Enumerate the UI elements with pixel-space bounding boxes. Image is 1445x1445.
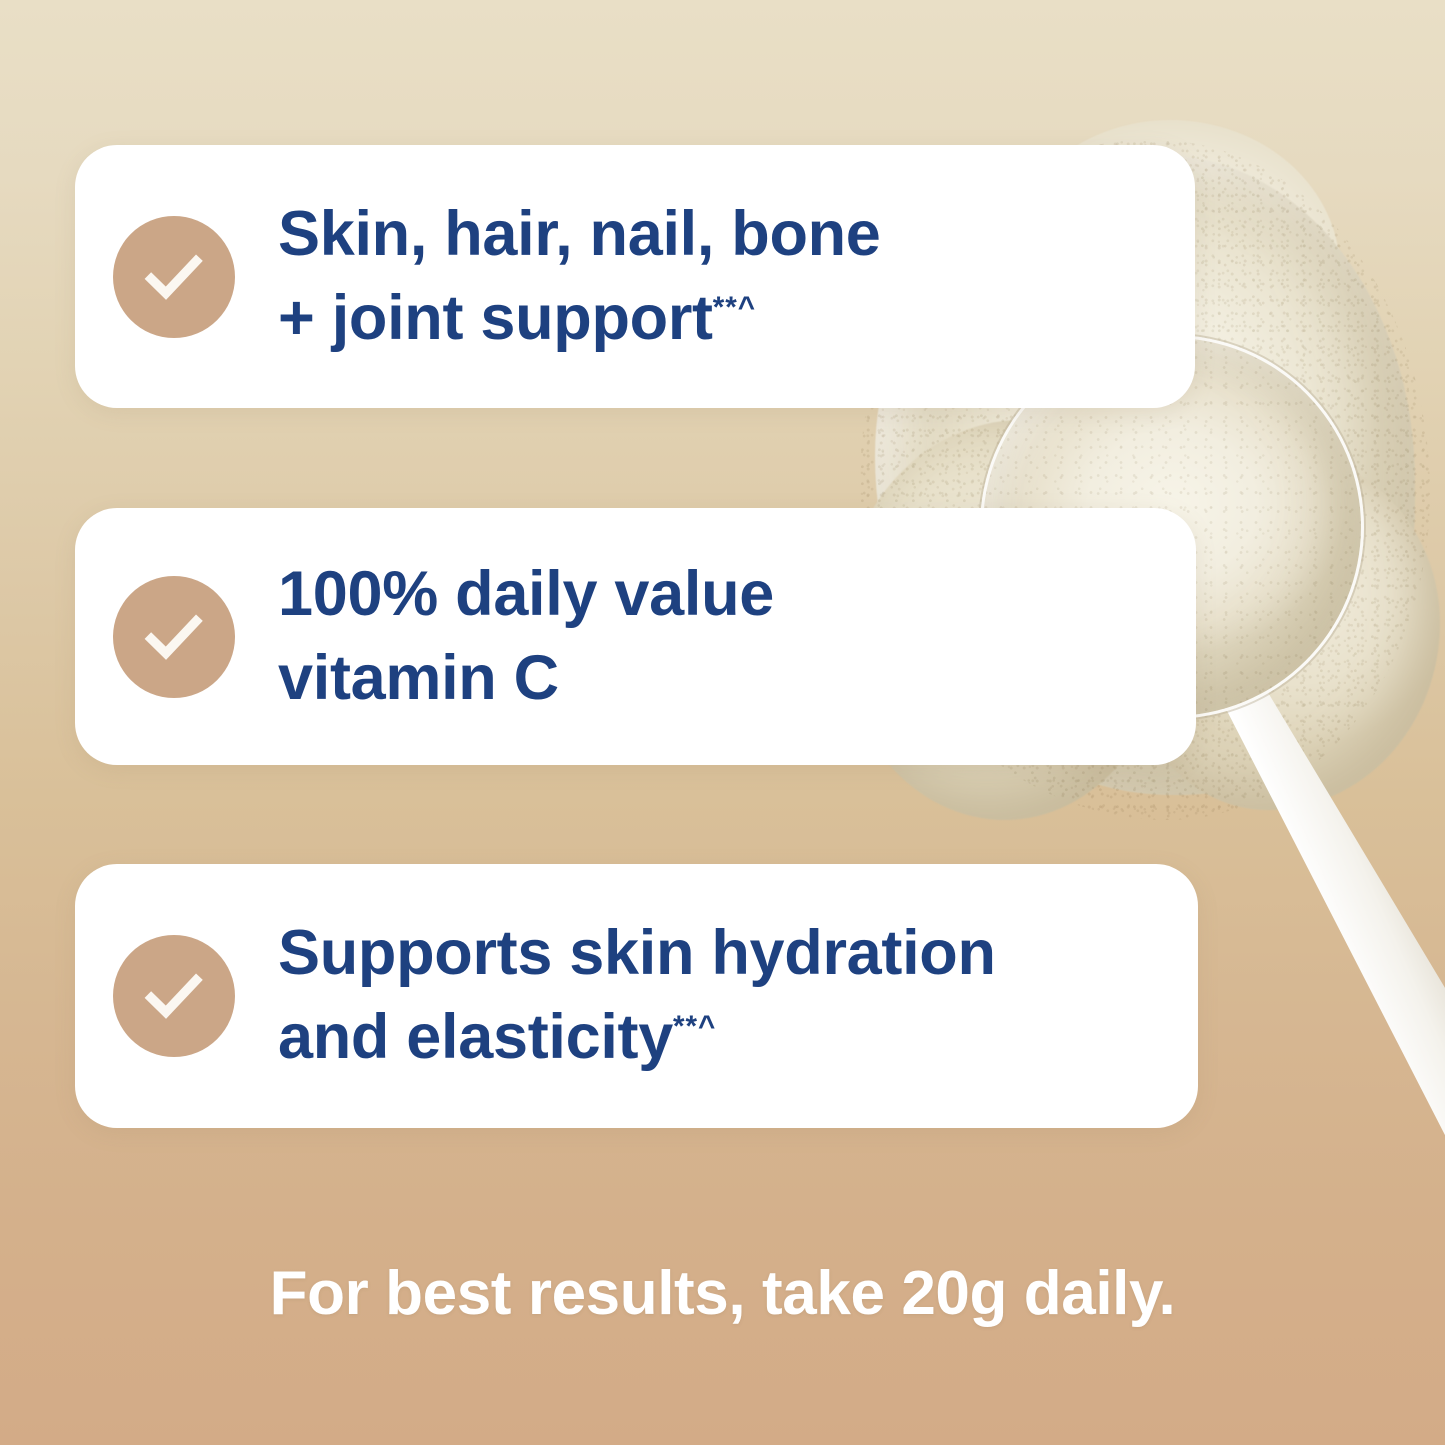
benefit-line-2: + joint support	[278, 283, 713, 353]
benefit-superscript: **^	[713, 291, 756, 324]
infographic-canvas: Skin, hair, nail, bone+ joint support**^…	[0, 0, 1445, 1445]
benefit-card: 100% daily valuevitamin C	[75, 508, 1196, 765]
check-icon	[113, 216, 235, 338]
usage-instruction: For best results, take 20g daily.	[0, 1258, 1445, 1329]
benefit-card: Supports skin hydrationand elasticity**^	[75, 864, 1198, 1128]
benefit-text: Skin, hair, nail, bone+ joint support**^	[278, 193, 881, 361]
benefit-text: Supports skin hydrationand elasticity**^	[278, 912, 996, 1080]
benefit-card: Skin, hair, nail, bone+ joint support**^	[75, 145, 1195, 408]
benefit-line-1: 100% daily value	[278, 559, 774, 629]
benefit-superscript: **^	[673, 1010, 716, 1043]
check-icon	[113, 576, 235, 698]
benefit-text: 100% daily valuevitamin C	[278, 553, 774, 721]
benefit-line-2: vitamin C	[278, 643, 559, 713]
benefit-line-2: and elasticity	[278, 1002, 673, 1072]
benefit-line-1: Supports skin hydration	[278, 918, 996, 988]
benefit-line-1: Skin, hair, nail, bone	[278, 199, 881, 269]
check-icon	[113, 935, 235, 1057]
